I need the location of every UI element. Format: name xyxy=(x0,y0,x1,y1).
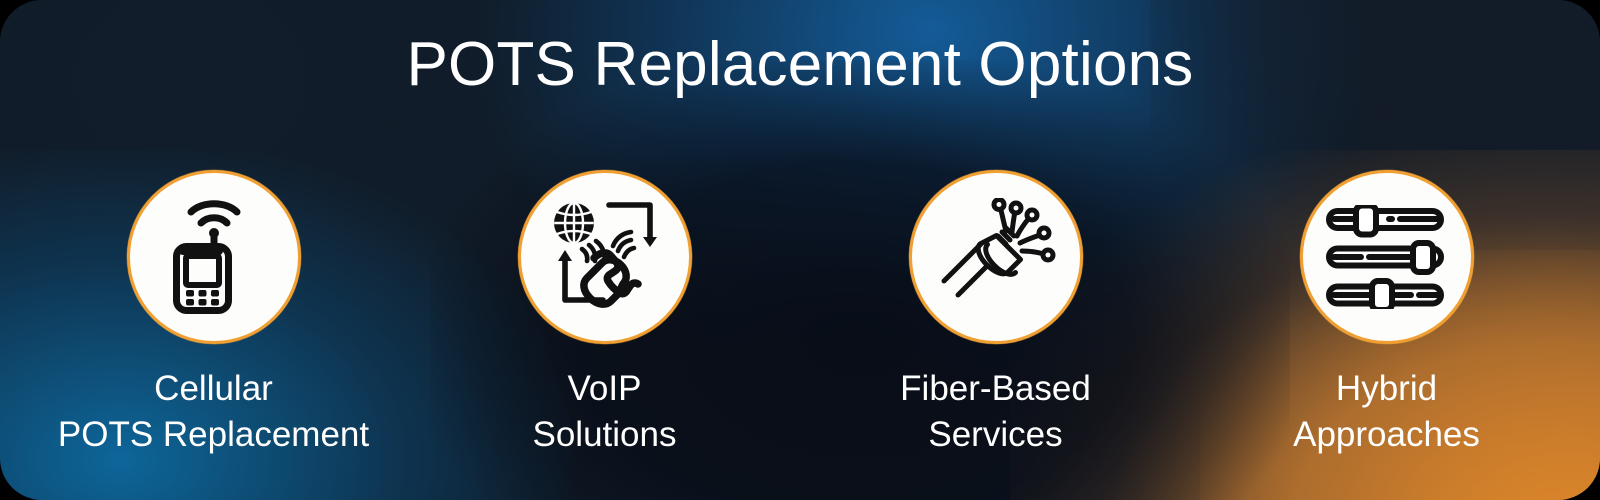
icon-circle-voip[interactable] xyxy=(518,170,692,344)
icon-circle-hybrid[interactable] xyxy=(1300,170,1474,344)
pots-replacement-infographic-card: POTS Replacement Options xyxy=(0,0,1600,500)
cellular-phone-signal-icon xyxy=(158,198,270,316)
option-label-cellular: Cellular POTS Replacement xyxy=(58,366,369,458)
fiber-optic-cable-icon xyxy=(936,198,1056,316)
option-label-hybrid: Hybrid Approaches xyxy=(1293,366,1480,458)
option-label-voip: VoIP Solutions xyxy=(533,366,677,458)
icon-circle-cellular[interactable] xyxy=(127,170,301,344)
option-label-fiber: Fiber-Based Services xyxy=(900,366,1091,458)
option-cellular-pots-replacement[interactable]: Cellular POTS Replacement xyxy=(36,170,391,458)
voip-globe-handset-icon xyxy=(546,199,664,315)
option-voip-solutions[interactable]: VoIP Solutions xyxy=(427,170,782,458)
card-content: POTS Replacement Options xyxy=(0,0,1600,500)
sliders-settings-icon xyxy=(1325,205,1449,309)
option-fiber-based-services[interactable]: Fiber-Based Services xyxy=(818,170,1173,458)
icon-circle-fiber[interactable] xyxy=(909,170,1083,344)
options-row: Cellular POTS Replacement xyxy=(0,170,1600,458)
page-title: POTS Replacement Options xyxy=(0,32,1600,97)
option-hybrid-approaches[interactable]: Hybrid Approaches xyxy=(1209,170,1564,458)
